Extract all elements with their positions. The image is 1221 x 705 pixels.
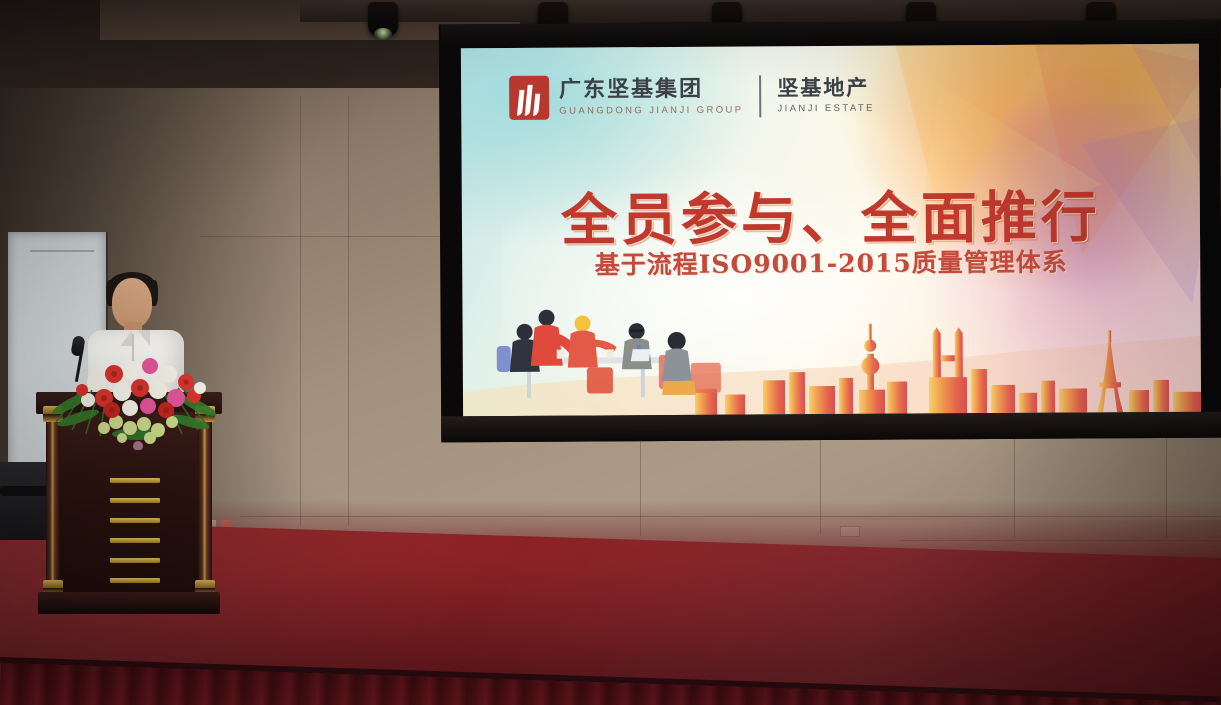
business-meeting-illustration xyxy=(490,292,791,412)
flower-bouquet-icon xyxy=(52,330,224,450)
floral-arrangement xyxy=(52,330,224,450)
podium-gold-bar xyxy=(110,538,160,543)
spotlight-icon xyxy=(368,2,398,36)
wall-seam xyxy=(348,96,349,526)
podium-gold-bar xyxy=(110,578,160,583)
podium-gold-bar xyxy=(110,518,160,523)
podium-gold-bar xyxy=(110,478,160,483)
lighting-track xyxy=(300,0,1221,22)
slide-subtitle: 基于流程ISO9001-2015质量管理体系 xyxy=(462,242,1200,283)
slide-logo: 广东坚基集团 GUANGDONG JIANJI GROUP 坚基地产 JIANJ… xyxy=(509,74,875,120)
conference-hall-photo: 广东坚基集团 GUANGDONG JIANJI GROUP 坚基地产 JIANJ… xyxy=(0,0,1221,705)
projection-screen: 广东坚基集团 GUANGDONG JIANJI GROUP 坚基地产 JIANJ… xyxy=(439,20,1221,443)
company-name-en: GUANGDONG JIANJI GROUP xyxy=(559,104,743,116)
jianji-logo-mark-icon xyxy=(509,76,549,120)
screen-bottom-bar xyxy=(441,412,1221,443)
division-name-en: JIANJI ESTATE xyxy=(777,103,874,115)
podium-gold-bar xyxy=(110,558,160,563)
podium-gold-bar xyxy=(110,498,160,503)
wall-seam xyxy=(300,96,301,526)
company-name-cn: 广东坚基集团 xyxy=(559,78,743,101)
logo-divider xyxy=(759,75,761,117)
presenter-head xyxy=(112,278,152,328)
presentation-slide: 广东坚基集团 GUANGDONG JIANJI GROUP 坚基地产 JIANJ… xyxy=(461,44,1201,417)
division-name-cn: 坚基地产 xyxy=(777,78,874,100)
podium-base xyxy=(38,592,220,614)
panel-rail xyxy=(30,250,94,252)
